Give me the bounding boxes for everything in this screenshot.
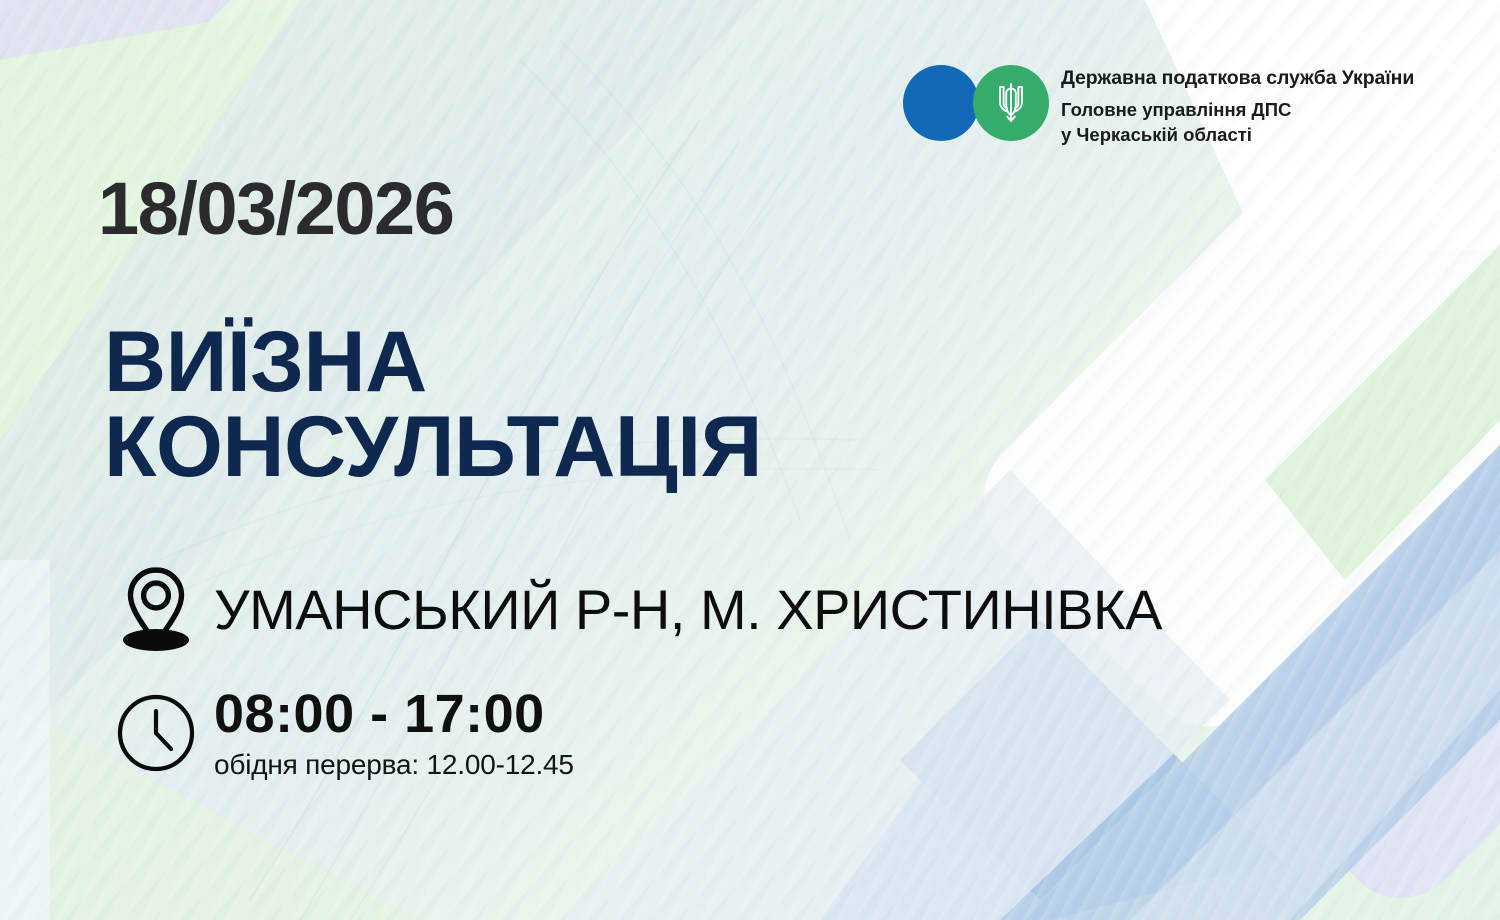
- location-label: УМАНСЬКИЙ Р-Н, М. ХРИСТИНІВКА: [214, 577, 1162, 642]
- page-title: ВИЇЗНА КОНСУЛЬТАЦІЯ: [104, 320, 762, 490]
- poster-content: 18/03/2026 ВИЇЗНА КОНСУЛЬТАЦІЯ УМАНСЬКИЙ…: [0, 0, 1500, 920]
- map-pin-icon-box: [112, 566, 200, 652]
- map-pin-icon: [119, 566, 193, 652]
- time-row: 08:00 - 17:00 обідня перерва: 12.00-12.4…: [112, 686, 574, 781]
- working-hours: 08:00 - 17:00: [214, 686, 574, 743]
- headline-line-1: ВИЇЗНА: [104, 320, 762, 405]
- event-poster: Державна податкова служба України Головн…: [0, 0, 1500, 920]
- clock-icon: [115, 692, 197, 774]
- headline-line-2: КОНСУЛЬТАЦІЯ: [104, 405, 762, 490]
- event-date: 18/03/2026: [98, 172, 453, 246]
- time-text-stack: 08:00 - 17:00 обідня перерва: 12.00-12.4…: [214, 686, 574, 781]
- clock-icon-box: [112, 692, 200, 774]
- lunch-break-note: обідня перерва: 12.00-12.45: [214, 749, 574, 781]
- location-row: УМАНСЬКИЙ Р-Н, М. ХРИСТИНІВКА: [112, 566, 1162, 652]
